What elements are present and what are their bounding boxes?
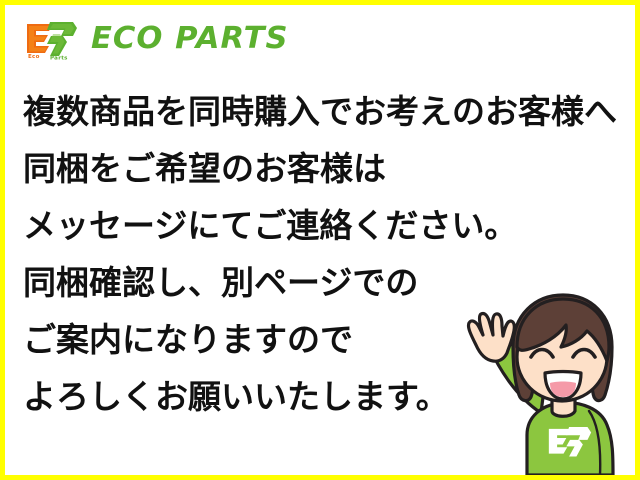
svg-text:Eco: Eco: [28, 54, 40, 60]
eco-parts-banner: Eco Parts ECO PARTS 複数商品を同時購入でお考えのお客様へ 同…: [0, 0, 640, 480]
message-line: 複数商品を同時購入でお考えのお客様へ: [23, 83, 623, 140]
message-line: 同梱をご希望のお客様は: [23, 140, 623, 197]
waving-staff-illustration: [449, 285, 629, 475]
brand-header: Eco Parts ECO PARTS: [23, 17, 285, 61]
svg-text:Parts: Parts: [50, 56, 68, 61]
message-line: メッセージにてご連絡ください。: [23, 197, 623, 254]
brand-wordmark: ECO PARTS: [91, 24, 289, 54]
eco-parts-logo-icon: Eco Parts: [23, 18, 81, 60]
